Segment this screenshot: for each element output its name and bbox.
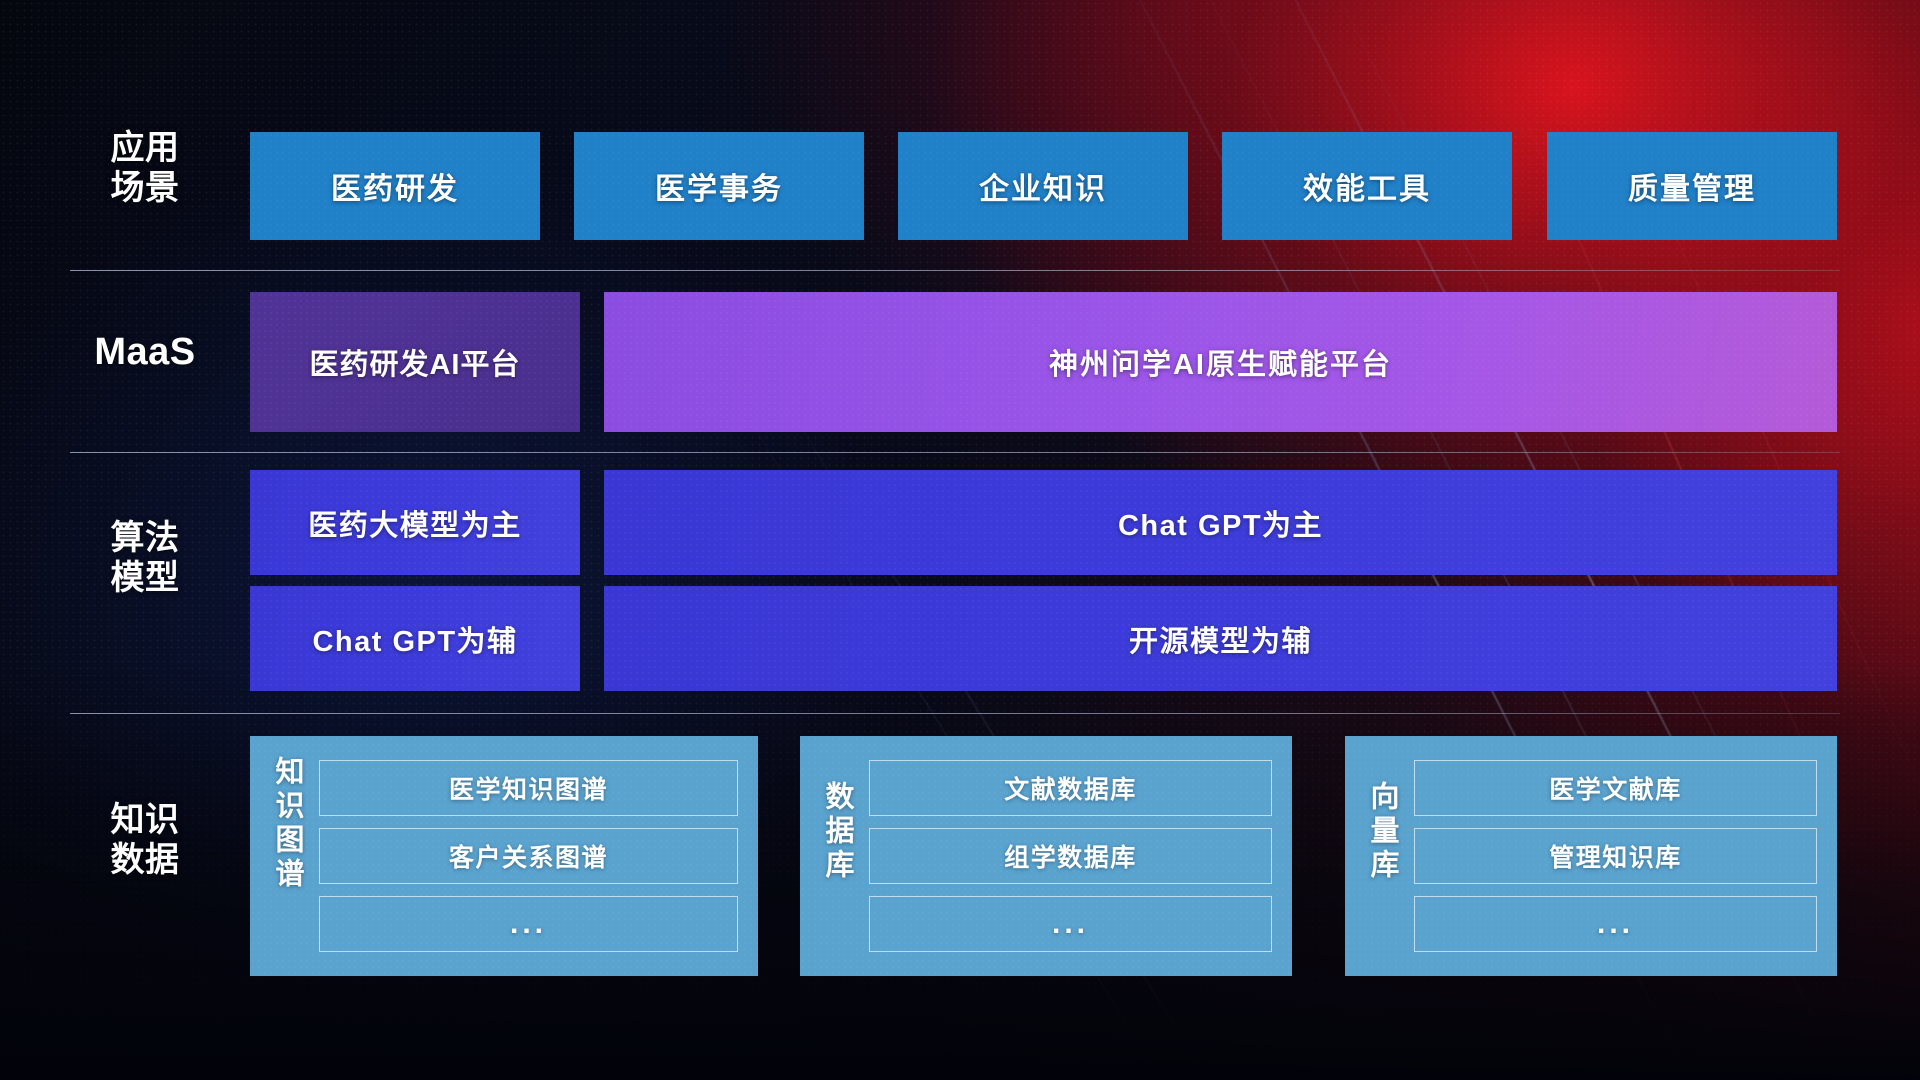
architecture-diagram: 应用 场景 医药研发 医学事务 企业知识 效能工具 质量管理 MaaS 医药研发… bbox=[0, 0, 1920, 1080]
maas-box-label: 医药研发AI平台 bbox=[309, 341, 520, 383]
app-scenario-label: 医药研发 bbox=[331, 164, 459, 208]
knowledge-group-vector-store[interactable]: 向量库 医学文献库 管理知识库 ... bbox=[1345, 736, 1837, 976]
knowledge-item-more[interactable]: ... bbox=[1414, 896, 1817, 952]
knowledge-item[interactable]: 文献数据库 bbox=[869, 760, 1272, 816]
app-scenario-label: 企业知识 bbox=[979, 164, 1107, 208]
knowledge-item-list: 医学知识图谱 客户关系图谱 ... bbox=[319, 760, 742, 952]
knowledge-group-title: 知识图谱 bbox=[272, 756, 301, 956]
app-scenario-box-5[interactable]: 质量管理 bbox=[1547, 132, 1837, 240]
knowledge-group-title: 数据库 bbox=[822, 781, 851, 931]
knowledge-item[interactable]: 组学数据库 bbox=[869, 828, 1272, 884]
knowledge-item-label: ... bbox=[1052, 907, 1089, 941]
maas-box-label: 神州问学AI原生赋能平台 bbox=[1049, 341, 1392, 383]
maas-box-shenzhou-platform[interactable]: 神州问学AI原生赋能平台 bbox=[604, 292, 1837, 432]
knowledge-item[interactable]: 客户关系图谱 bbox=[319, 828, 738, 884]
knowledge-item-label: 组学数据库 bbox=[1004, 838, 1137, 874]
algo-box-label: 开源模型为辅 bbox=[1129, 618, 1312, 660]
app-scenario-box-3[interactable]: 企业知识 bbox=[898, 132, 1188, 240]
maas-box-pharma-ai-platform[interactable]: 医药研发AI平台 bbox=[250, 292, 580, 432]
knowledge-item-more[interactable]: ... bbox=[319, 896, 738, 952]
knowledge-group-database[interactable]: 数据库 文献数据库 组学数据库 ... bbox=[800, 736, 1292, 976]
knowledge-item-label: ... bbox=[510, 907, 547, 941]
algo-box-pharma-large-model[interactable]: 医药大模型为主 bbox=[250, 470, 580, 575]
knowledge-item-label: 客户关系图谱 bbox=[449, 838, 608, 874]
algo-box-chatgpt-primary[interactable]: Chat GPT为主 bbox=[604, 470, 1837, 575]
algo-box-label: Chat GPT为主 bbox=[1118, 502, 1323, 544]
row-label-knowledge-data: 知识 数据 bbox=[60, 800, 230, 880]
knowledge-item[interactable]: 医学文献库 bbox=[1414, 760, 1817, 816]
knowledge-item-label: 文献数据库 bbox=[1004, 770, 1137, 806]
knowledge-item-more[interactable]: ... bbox=[869, 896, 1272, 952]
divider-1 bbox=[70, 270, 1840, 271]
algo-box-opensource-secondary[interactable]: 开源模型为辅 bbox=[604, 586, 1837, 691]
knowledge-item[interactable]: 医学知识图谱 bbox=[319, 760, 738, 816]
app-scenario-box-4[interactable]: 效能工具 bbox=[1222, 132, 1512, 240]
knowledge-group-title: 向量库 bbox=[1367, 781, 1396, 931]
app-scenario-box-2[interactable]: 医学事务 bbox=[574, 132, 864, 240]
algo-box-label: Chat GPT为辅 bbox=[312, 618, 517, 660]
knowledge-item-label: ... bbox=[1597, 907, 1634, 941]
row-label-maas: MaaS bbox=[60, 330, 230, 375]
app-scenario-label: 效能工具 bbox=[1303, 164, 1431, 208]
app-scenario-box-1[interactable]: 医药研发 bbox=[250, 132, 540, 240]
knowledge-item-list: 文献数据库 组学数据库 ... bbox=[869, 760, 1276, 952]
knowledge-item-label: 医学文献库 bbox=[1549, 770, 1682, 806]
algo-box-chatgpt-secondary[interactable]: Chat GPT为辅 bbox=[250, 586, 580, 691]
knowledge-item-list: 医学文献库 管理知识库 ... bbox=[1414, 760, 1821, 952]
knowledge-item[interactable]: 管理知识库 bbox=[1414, 828, 1817, 884]
app-scenario-label: 质量管理 bbox=[1628, 164, 1756, 208]
divider-2 bbox=[70, 452, 1840, 453]
app-scenario-label: 医学事务 bbox=[655, 164, 783, 208]
divider-3 bbox=[70, 713, 1840, 714]
row-label-algorithm-model: 算法 模型 bbox=[60, 518, 230, 598]
algo-box-label: 医药大模型为主 bbox=[308, 502, 522, 544]
knowledge-group-knowledge-graph[interactable]: 知识图谱 医学知识图谱 客户关系图谱 ... bbox=[250, 736, 758, 976]
knowledge-item-label: 管理知识库 bbox=[1549, 838, 1682, 874]
knowledge-item-label: 医学知识图谱 bbox=[449, 770, 608, 806]
row-label-application-scenarios: 应用 场景 bbox=[60, 128, 230, 208]
